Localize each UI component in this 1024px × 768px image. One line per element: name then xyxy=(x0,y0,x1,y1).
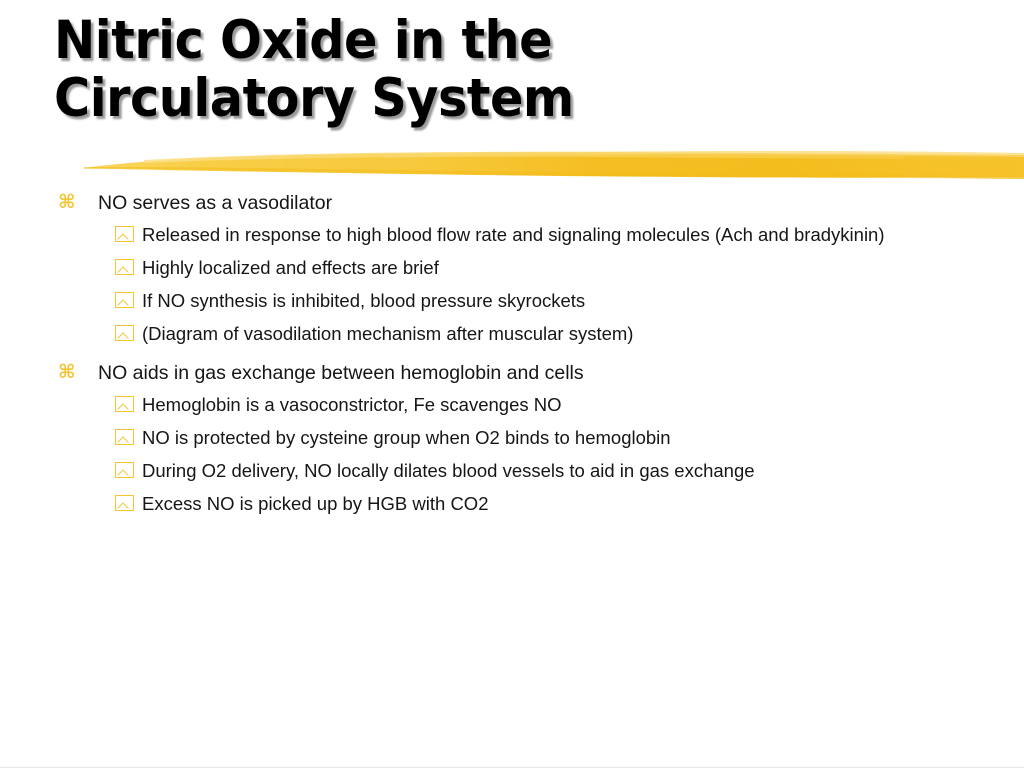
bullet-label: Released in response to high blood flow … xyxy=(142,222,932,248)
chevron-up-box-icon xyxy=(115,462,134,478)
chevron-up-box-icon xyxy=(115,259,134,275)
list-item: If NO synthesis is inhibited, blood pres… xyxy=(0,288,1024,314)
list-item: (Diagram of vasodilation mechanism after… xyxy=(0,321,1024,347)
yellow-brush-stroke-divider xyxy=(84,146,1024,192)
slide-body: ⌘ NO serves as a vasodilator Released in… xyxy=(0,190,1024,524)
list-item: Released in response to high blood flow … xyxy=(0,222,1024,248)
chevron-up-box-icon xyxy=(115,495,134,511)
command-glyph-icon: ⌘ xyxy=(58,189,76,215)
chevron-up-box-icon xyxy=(115,292,134,308)
list-item: ⌘ NO aids in gas exchange between hemogl… xyxy=(0,360,1024,386)
chevron-up-box-icon xyxy=(115,325,134,341)
slide-canvas: Nitric Oxide in the Circulatory System xyxy=(0,0,1024,768)
list-item: Hemoglobin is a vasoconstrictor, Fe scav… xyxy=(0,392,1024,418)
list-item: During O2 delivery, NO locally dilates b… xyxy=(0,458,1024,484)
bullet-label: NO serves as a vasodilator xyxy=(98,192,332,214)
list-item: Excess NO is picked up by HGB with CO2 xyxy=(0,491,1024,517)
bullet-label: NO aids in gas exchange between hemoglob… xyxy=(98,362,584,384)
chevron-up-box-icon xyxy=(115,226,134,242)
chevron-up-box-icon xyxy=(115,429,134,445)
bullet-label: Highly localized and effects are brief xyxy=(142,255,1024,281)
list-item: ⌘ NO serves as a vasodilator xyxy=(0,190,1024,216)
list-item: NO is protected by cysteine group when O… xyxy=(0,425,1024,451)
bullet-label: During O2 delivery, NO locally dilates b… xyxy=(142,458,952,484)
chevron-up-box-icon xyxy=(115,396,134,412)
bullet-label: Hemoglobin is a vasoconstrictor, Fe scav… xyxy=(142,392,1024,418)
title-line-2: Circulatory System xyxy=(54,70,928,128)
page-title: Nitric Oxide in the Circulatory System xyxy=(54,12,994,128)
bullet-label: NO is protected by cysteine group when O… xyxy=(142,425,1024,451)
list-item: Highly localized and effects are brief xyxy=(0,255,1024,281)
title-line-1: Nitric Oxide in the xyxy=(54,12,928,70)
bullet-label: Excess NO is picked up by HGB with CO2 xyxy=(142,491,1024,517)
command-glyph-icon: ⌘ xyxy=(58,359,76,385)
bullet-label: If NO synthesis is inhibited, blood pres… xyxy=(142,288,1024,314)
bullet-label: (Diagram of vasodilation mechanism after… xyxy=(142,321,1024,347)
